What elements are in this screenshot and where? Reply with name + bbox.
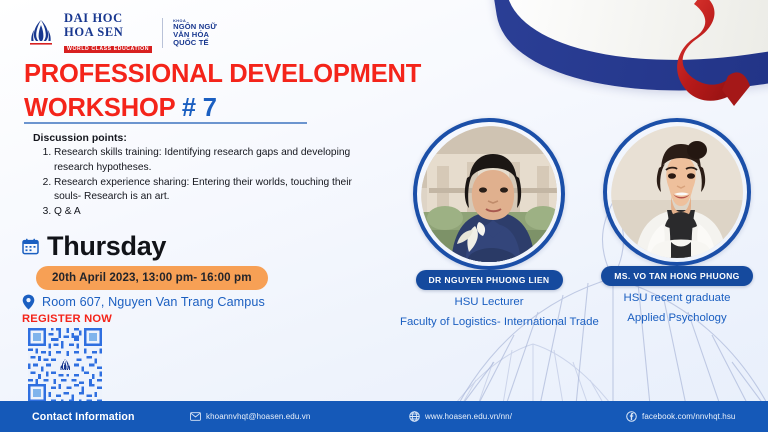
- date-row: Thursday: [22, 233, 166, 260]
- speaker-role-line-2: Applied Psychology: [588, 311, 766, 326]
- calendar-icon: [22, 238, 39, 255]
- title-workshop-number: # 7: [182, 94, 217, 122]
- contact-email[interactable]: khoannvhqt@hoasen.edu.vn: [190, 411, 310, 422]
- avatar-ring: [603, 118, 751, 266]
- hoa-sen-flame-logo-icon: [26, 18, 56, 48]
- logo-line-1: DAI HOC: [64, 12, 152, 25]
- contact-facebook[interactable]: facebook.com/nnvhqt.hsu: [626, 411, 735, 422]
- event-location-row: Room 607, Nguyen Van Trang Campus: [22, 294, 265, 310]
- contact-facebook-text: facebook.com/nnvhqt.hsu: [642, 412, 735, 421]
- location-pin-icon: [22, 294, 35, 310]
- title-line-2: WORKSHOP: [24, 94, 182, 122]
- logo-tagline: WORLD CLASS EDUCATION: [64, 46, 152, 54]
- list-item: Research skills training: Identifying re…: [54, 146, 373, 175]
- logo-line-2: HOA SEN: [64, 26, 152, 39]
- speaker-photo-1-illustration: [421, 126, 557, 262]
- avatar: [603, 118, 751, 266]
- faculty-line-3: QUỐC TẾ: [173, 39, 217, 47]
- ribbon-decoration-icon: [650, 0, 760, 109]
- qr-code[interactable]: [28, 328, 102, 402]
- speaker-photo-1: [421, 126, 557, 262]
- discussion-heading: Discussion points:: [33, 133, 373, 144]
- title-underline: [24, 122, 307, 124]
- event-day: Thursday: [47, 233, 166, 260]
- list-item: Q & A: [54, 205, 373, 220]
- discussion-list: Research skills training: Identifying re…: [33, 146, 373, 220]
- register-now-label: REGISTER NOW: [22, 313, 112, 325]
- speaker-photo-2-illustration: [611, 126, 743, 258]
- contact-info-title: Contact Information: [32, 411, 135, 423]
- speaker-role-line-1: HSU Lecturer: [400, 295, 578, 310]
- avatar-ring: [413, 118, 565, 270]
- facebook-icon: [626, 411, 637, 422]
- speaker-card-2: MS. VO TAN HONG PHUONG HSU recent gradua…: [588, 118, 766, 326]
- globe-icon: [409, 411, 420, 422]
- discussion-points: Discussion points: Research skills train…: [33, 133, 373, 220]
- speaker-card-1: DR NGUYEN PHUONG LIEN HSU Lecturer Facul…: [400, 118, 578, 330]
- event-datetime-badge: 20th April 2023, 13:00 pm- 16:00 pm: [36, 266, 268, 290]
- speaker-role-line-1: HSU recent graduate: [588, 291, 766, 306]
- event-location: Room 607, Nguyen Van Trang Campus: [42, 295, 265, 309]
- avatar: [413, 118, 565, 270]
- envelope-icon: [190, 411, 201, 422]
- speaker-name-badge: DR NGUYEN PHUONG LIEN: [416, 270, 563, 290]
- speaker-role-line-2: Faculty of Logistics- International Trad…: [400, 315, 578, 330]
- logo-divider: [162, 18, 163, 48]
- contact-website[interactable]: www.hoasen.edu.vn/nn/: [409, 411, 512, 422]
- speaker-name-badge: MS. VO TAN HONG PHUONG: [601, 266, 752, 286]
- hsu-logo: DAI HOC HOA SEN WORLD CLASS EDUCATION KH…: [26, 12, 217, 54]
- contact-website-text: www.hoasen.edu.vn/nn/: [425, 412, 512, 421]
- speaker-photo-2: [611, 126, 743, 258]
- list-item: Research experience sharing: Entering th…: [54, 176, 373, 205]
- contact-email-text: khoannvhqt@hoasen.edu.vn: [206, 412, 310, 421]
- title-line-1: PROFESSIONAL DEVELOPMENT: [24, 58, 444, 92]
- contact-footer: Contact Information khoannvhqt@hoasen.ed…: [0, 401, 768, 432]
- faculty-name: KHOA NGÔN NGỮ VĂN HÓA QUỐC TẾ: [173, 19, 217, 48]
- page-title: PROFESSIONAL DEVELOPMENT WORKSHOP # 7: [24, 58, 444, 126]
- workshop-poster: DAI HOC HOA SEN WORLD CLASS EDUCATION KH…: [0, 0, 768, 432]
